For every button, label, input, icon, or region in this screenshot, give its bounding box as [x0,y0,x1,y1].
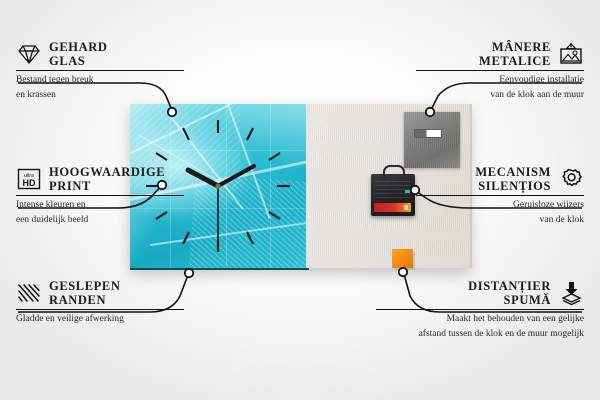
feature-subtitle-line2: een duidelijk beeld [16,211,184,226]
diagonal-lines-icon [16,280,42,306]
feature-title-line2: PRINT [49,179,165,193]
feature-subtitle-line2: van de klok aan de muur [416,86,584,101]
feature-subtitle-line2: afstand tussen de klok en de muur mogeli… [376,325,584,340]
feature-title-line1: MECANISM [475,165,551,179]
feature-subtitle-line1: Bestand tegen breuk [16,71,184,86]
ultra-hd-icon: ultra HD [16,166,42,192]
feature-hoogwaardige-print: ultra HD HOOGWAARDIGE PRINT Intense kleu… [16,165,184,226]
feature-subtitle-line1: Maakt het behouden van een gelijke [376,310,584,325]
feature-title-line2: SILENȚIOS [475,179,551,193]
feature-subtitle-line1: Intense kleuren en [16,196,184,211]
feature-distantier-spuma: DISTANȚIER SPUMĂ Maakt het behouden van … [376,279,584,340]
feature-title-line2: GLAS [49,54,107,68]
diamond-icon [16,41,42,67]
feature-title-line1: GEHARD [49,40,107,54]
infographic-canvas: GEHARD GLAS Bestand tegen breuk en krass… [0,0,600,400]
feature-title-line2: RANDEN [49,293,121,307]
gear-icon [558,166,584,192]
feature-geslepen-randen: GESLEPEN RANDEN Gladde en veilige afwerk… [16,279,184,325]
feature-gehard-glas: GEHARD GLAS Bestand tegen breuk en krass… [16,40,184,101]
feature-subtitle-line1: Geruisloze wijzers [416,196,584,211]
feature-subtitle-line1: Eenvoudige installatie [416,71,584,86]
feature-title-line2: SPUMĂ [468,293,551,307]
feature-subtitle-line2: van de klok [416,211,584,226]
hanging-picture-frame-icon [558,41,584,67]
svg-text:HD: HD [23,178,36,188]
feature-title-line1: DISTANȚIER [468,279,551,293]
feature-subtitle-line2: en krassen [16,86,184,101]
feature-title-line2: METALICE [479,54,551,68]
feature-title-line1: HOOGWAARDIGE [49,165,165,179]
press-down-icon [558,280,584,306]
feature-title-line1: MÂNERE [479,40,551,54]
feature-manere-metalice: MÂNERE METALICE Eenvoudige installatie v… [416,40,584,101]
feature-mecanism-silentios: MECANISM SILENȚIOS Geruisloze wijzers va… [416,165,584,226]
feature-subtitle-line1: Gladde en veilige afwerking [16,310,184,325]
feature-title-line1: GESLEPEN [49,279,121,293]
